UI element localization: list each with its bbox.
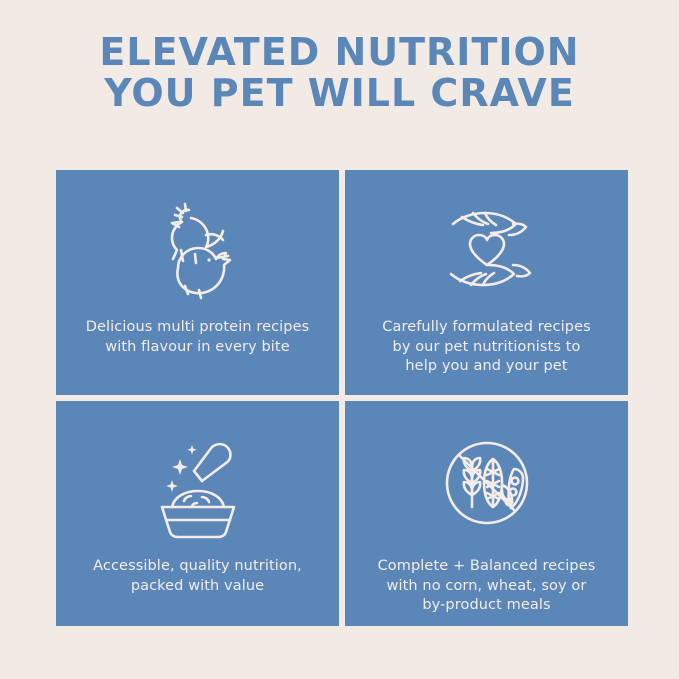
caption-line: with flavour in every bite (86, 338, 310, 358)
caption-line: packed with value (93, 577, 302, 597)
feature-caption: Accessible, quality nutrition, packed wi… (93, 557, 302, 596)
caption-line: Delicious multi protein recipes (86, 318, 310, 338)
feature-tile-value: Accessible, quality nutrition, packed wi… (56, 401, 339, 626)
feature-tile-protein: Delicious multi protein recipes with fla… (56, 170, 339, 395)
headline-line-1: ELEVATED NUTRITION (0, 32, 679, 73)
caption-line: Carefully formulated recipes (382, 318, 591, 338)
feature-caption: Delicious multi protein recipes with fla… (86, 318, 310, 357)
chicken-and-duck-icon (133, 194, 263, 304)
caption-line: with no corn, wheat, soy or (378, 577, 596, 597)
promo-graphic: ELEVATED NUTRITION YOU PET WILL CRAVE (0, 0, 679, 679)
feature-grid: Delicious multi protein recipes with fla… (56, 170, 623, 631)
pet-bowl-with-sparkle-icon (128, 425, 268, 543)
hands-holding-heart-icon (417, 194, 557, 304)
feature-caption: Complete + Balanced recipes with no corn… (378, 557, 596, 616)
feature-tile-formulated: Carefully formulated recipes by our pet … (345, 170, 628, 395)
feature-caption: Carefully formulated recipes by our pet … (382, 318, 591, 377)
headline-line-2: YOU PET WILL CRAVE (0, 73, 679, 114)
caption-line: by our pet nutritionists to (382, 338, 591, 358)
feature-tile-no-fillers: Complete + Balanced recipes with no corn… (345, 401, 628, 626)
caption-line: Complete + Balanced recipes (378, 557, 596, 577)
no-corn-wheat-soy-icon (417, 425, 557, 543)
caption-line: by-product meals (378, 596, 596, 616)
caption-line: Accessible, quality nutrition, (93, 557, 302, 577)
caption-line: help you and your pet (382, 357, 591, 377)
page-title: ELEVATED NUTRITION YOU PET WILL CRAVE (0, 0, 679, 114)
